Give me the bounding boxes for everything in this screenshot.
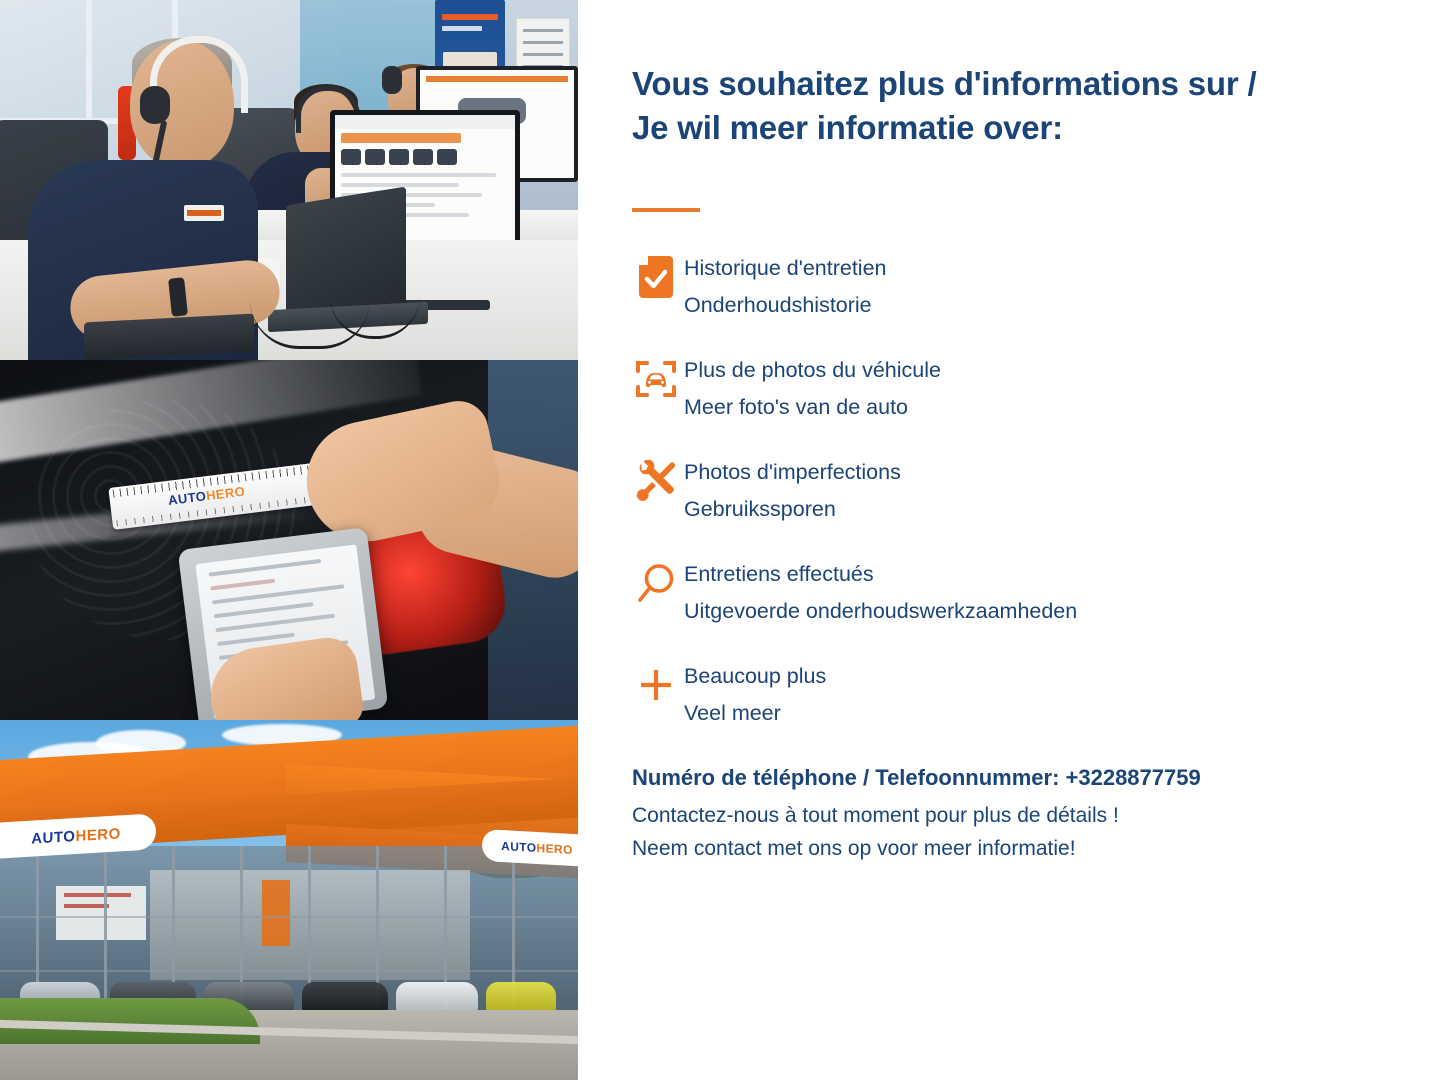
brand-autohero-hero: HERO — [75, 825, 120, 845]
content-column: Vous souhaitez plus d'informations sur /… — [578, 0, 1440, 1080]
feature-item-completed-services: Entretiens effectués Uitgevoerde onderho… — [628, 554, 1258, 630]
plus-icon — [628, 656, 684, 714]
feature-label-fr: Entretiens effectués — [684, 556, 1077, 593]
brand-autohero-auto: AUTO — [31, 828, 75, 848]
contact-line-nl: Neem contact met ons op voor meer inform… — [632, 833, 1432, 866]
brand-autohero-auto: AUTO — [501, 839, 536, 855]
phone-number-line[interactable]: Numéro de téléphone / Telefoonnummer: +3… — [632, 765, 1432, 791]
contact-line-fr: Contactez-nous à tout moment pour plus d… — [632, 800, 1432, 833]
car-scan-icon — [628, 350, 684, 408]
feature-item-imperfections: Photos d'imperfections Gebruikssporen — [628, 452, 1258, 528]
interior-orange-panel — [262, 880, 290, 946]
feature-text: Plus de photos du véhicule Meer foto's v… — [684, 350, 941, 426]
photo-column: AUTOHERO — [0, 0, 578, 1080]
showroom-car — [302, 982, 388, 1012]
feature-label-nl: Gebruikssporen — [684, 491, 901, 528]
headset-icon — [382, 66, 402, 94]
feature-label-fr: Plus de photos du véhicule — [684, 352, 941, 389]
interior-banner — [56, 886, 146, 940]
feature-text: Historique d'entretien Onderhoudshistori… — [684, 248, 887, 324]
showroom-car — [486, 982, 556, 1012]
brand-autohero-hero: HERO — [205, 484, 246, 504]
call-center-agents-photo — [0, 0, 578, 360]
feature-label-nl: Uitgevoerde onderhoudswerkzaamheden — [684, 593, 1077, 630]
feature-label-nl: Veel meer — [684, 695, 826, 732]
magnifier-icon — [628, 554, 684, 612]
autohero-showroom-photo: AUTOHERO AUTOHERO — [0, 720, 578, 1080]
feature-text: Entretiens effectués Uitgevoerde onderho… — [684, 554, 1077, 630]
page-title: Vous souhaitez plus d'informations sur /… — [632, 62, 1402, 150]
feature-label-fr: Photos d'imperfections — [684, 454, 901, 491]
brand-autohero-hero: HERO — [537, 841, 573, 857]
feature-item-much-more: Beaucoup plus Veel meer — [628, 656, 1258, 732]
agent-name-badge — [184, 205, 224, 221]
page-title-line-nl: Je wil meer informatie over: — [632, 106, 1402, 150]
feature-label-nl: Onderhoudshistorie — [684, 287, 887, 324]
showroom-car — [396, 982, 478, 1012]
tools-icon — [628, 452, 684, 510]
feature-text: Photos d'imperfections Gebruikssporen — [684, 452, 901, 528]
feature-label-fr: Beaucoup plus — [684, 658, 826, 695]
contact-block: Numéro de téléphone / Telefoonnummer: +3… — [632, 765, 1432, 865]
feature-text: Beaucoup plus Veel meer — [684, 656, 826, 732]
vehicle-inspection-photo: AUTOHERO — [0, 360, 578, 720]
title-underline-rule — [632, 208, 700, 212]
headset-earcup — [140, 86, 170, 124]
feature-item-service-history: Historique d'entretien Onderhoudshistori… — [628, 248, 1258, 324]
feature-label-nl: Meer foto's van de auto — [684, 389, 941, 426]
feature-item-more-photos: Plus de photos du véhicule Meer foto's v… — [628, 350, 1258, 426]
brand-autohero-auto: AUTO — [167, 488, 207, 508]
showroom-sign-right: AUTOHERO — [482, 829, 578, 867]
promo-page: AUTOHERO — [0, 0, 1440, 1080]
document-check-icon — [628, 248, 684, 306]
page-title-line-fr: Vous souhaitez plus d'informations sur / — [632, 62, 1402, 106]
feature-list: Historique d'entretien Onderhoudshistori… — [628, 248, 1258, 758]
feature-label-fr: Historique d'entretien — [684, 250, 887, 287]
